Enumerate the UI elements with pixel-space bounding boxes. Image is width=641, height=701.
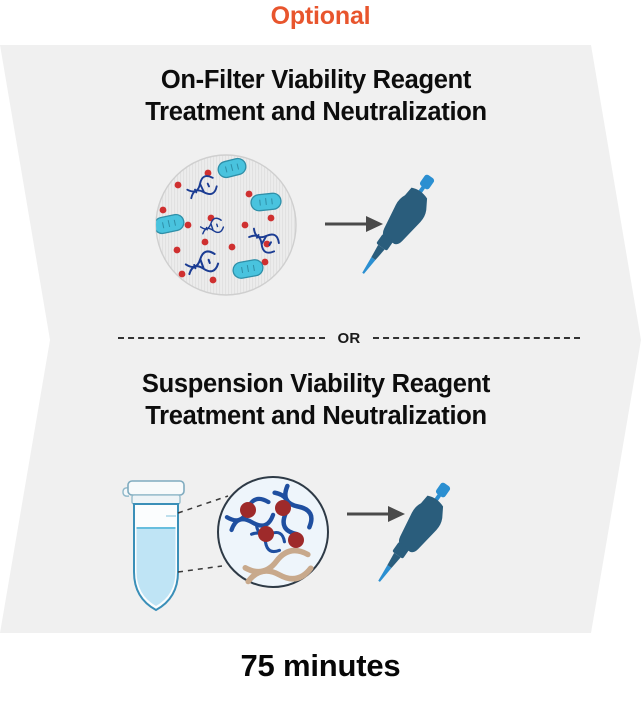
suspension-graphic [110,468,530,628]
suspension-illustration [110,468,530,628]
pipette-icon [369,477,462,591]
step-title-line1: On-Filter Viability Reagent [36,64,596,96]
magnified-view-circle [218,477,328,588]
on-filter-illustration [150,152,550,302]
step-title-line1: Suspension Viability Reagent [36,368,596,400]
step-title-suspension: Suspension Viability Reagent Treatment a… [36,368,596,432]
process-arrow-icon [347,506,405,522]
divider-dash-left [118,337,325,339]
optional-label: Optional [0,2,641,31]
step-title-line2: Treatment and Neutralization [36,400,596,432]
workflow-diagram: Optional On-Filter Viability Reagent Tre… [0,0,641,701]
process-arrow-icon [325,216,383,232]
step-title-on-filter: On-Filter Viability Reagent Treatment an… [36,64,596,128]
divider-label: OR [337,330,360,347]
filter-disc-icon [153,155,296,295]
microcentrifuge-tube-icon [123,481,184,610]
on-filter-graphic [150,152,550,302]
duration-label: 75 minutes [0,648,641,684]
or-divider: OR [118,328,580,348]
step-title-line2: Treatment and Neutralization [36,96,596,128]
divider-dash-right [373,337,580,339]
